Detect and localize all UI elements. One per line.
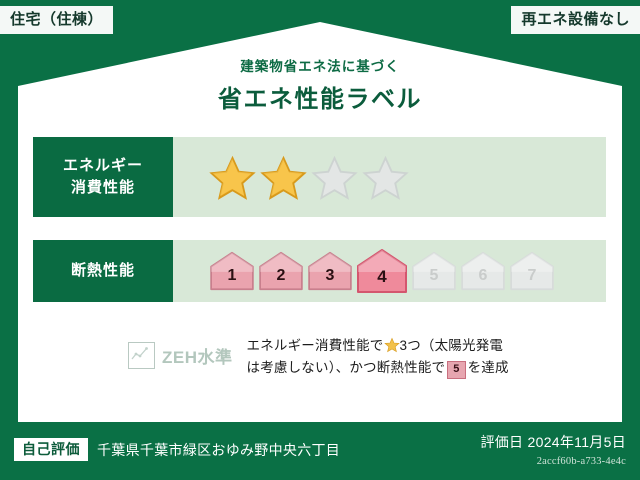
house-grade-icon: 5: [411, 251, 457, 291]
grade-number: 2: [277, 267, 286, 291]
house-grade-icon: 3: [307, 251, 353, 291]
zeh-section: ZEH水準 エネルギー消費性能で3つ（太陽光発電 は考慮しない）、かつ断熱性能で…: [33, 333, 606, 393]
row-energy-label-line2: 消費性能: [71, 177, 135, 199]
house-grade-icon: 1: [209, 251, 255, 291]
insulation-grade-chip: 5: [447, 361, 465, 379]
grade-number: 4: [377, 267, 386, 294]
row-energy-label-line1: エネルギー: [63, 155, 143, 177]
page-title-block: 建築物省エネ法に基づく 省エネ性能ラベル: [0, 55, 640, 114]
star-filled-icon: [384, 337, 400, 353]
badge-building-type: 住宅（住棟）: [0, 6, 113, 34]
evaluation-date: 評価日 2024年11月5日: [480, 432, 626, 452]
house-grade-icon: 6: [460, 251, 506, 291]
star-empty-icon: [362, 155, 409, 200]
row-energy-label: エネルギー 消費性能: [33, 137, 173, 217]
property-address: 千葉県千葉市緑区おゆみ野中央六丁目: [97, 440, 340, 460]
grade-number: 1: [228, 267, 237, 291]
star-empty-icon: [311, 155, 358, 200]
zeh-mark: ZEH水準: [128, 342, 233, 369]
row-insulation-performance: 断熱性能 1234567: [33, 240, 606, 302]
row-insulation-label-line1: 断熱性能: [71, 260, 135, 282]
zeh-desc-text-a: エネルギー消費性能で: [247, 338, 384, 353]
grade-number: 3: [326, 267, 335, 291]
page-subtitle: 建築物省エネ法に基づく: [0, 55, 640, 75]
grade-number: 5: [430, 267, 439, 291]
row-insulation-label: 断熱性能: [33, 240, 173, 302]
star-filled-icon: [209, 155, 256, 200]
zeh-desc-text-c: は考慮しない）、かつ断熱性能で: [247, 360, 446, 375]
zeh-desc-text-b: 3つ（太陽光発電: [400, 338, 504, 353]
evaluation-id: 2accf60b-a733-4e4c: [480, 456, 626, 467]
zeh-description-line2: は考慮しない）、かつ断熱性能で5を達成: [247, 357, 509, 379]
row-energy-performance: エネルギー 消費性能: [33, 137, 606, 217]
zeh-chart-icon: [128, 342, 155, 369]
insulation-grade-scale: 1234567: [173, 240, 606, 302]
badge-renewable-energy: 再エネ設備なし: [511, 6, 640, 34]
zeh-description-line1: エネルギー消費性能で3つ（太陽光発電: [247, 335, 509, 357]
grade-number: 6: [479, 267, 488, 291]
star-rating: [173, 137, 606, 217]
footer: 自己評価 千葉県千葉市緑区おゆみ野中央六丁目 評価日 2024年11月5日 2a…: [0, 424, 640, 480]
page-title: 省エネ性能ラベル: [0, 79, 640, 114]
zeh-desc-text-d: を達成: [468, 360, 509, 375]
zeh-description: エネルギー消費性能で3つ（太陽光発電 は考慮しない）、かつ断熱性能で5を達成: [247, 335, 509, 380]
grade-number: 7: [528, 267, 537, 291]
self-evaluation-badge: 自己評価: [14, 438, 88, 461]
footer-left: 自己評価 千葉県千葉市緑区おゆみ野中央六丁目: [14, 438, 340, 461]
zeh-label: ZEH水準: [162, 343, 233, 368]
house-grade-icon: 4: [356, 248, 408, 294]
house-grade-icon: 2: [258, 251, 304, 291]
house-grade-icon: 7: [509, 251, 555, 291]
footer-right: 評価日 2024年11月5日 2accf60b-a733-4e4c: [480, 432, 626, 467]
star-filled-icon: [260, 155, 307, 200]
